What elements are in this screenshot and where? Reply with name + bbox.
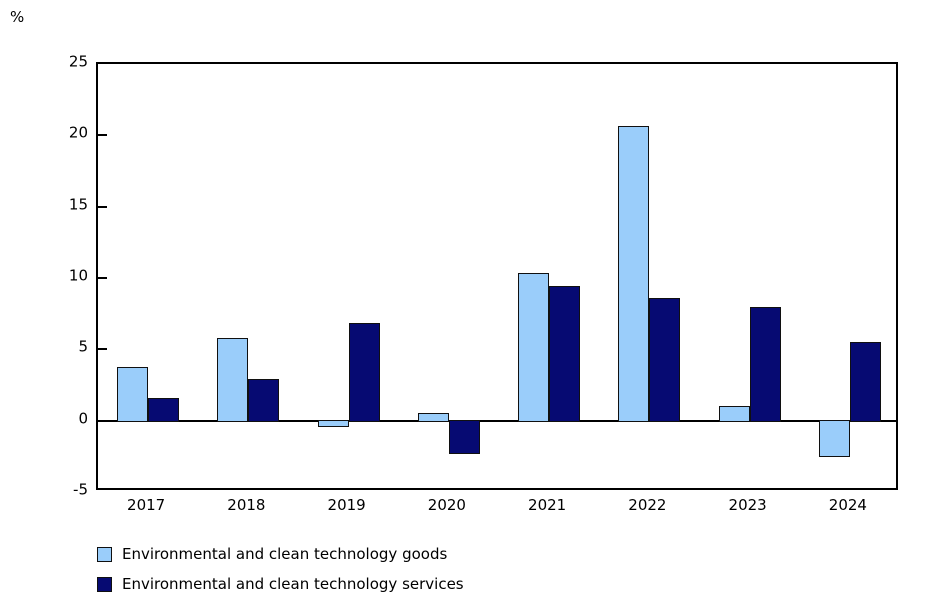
- y-axis-tick-mark: [98, 277, 107, 279]
- x-axis-tick-label: 2019: [302, 496, 392, 514]
- legend-item-services: Environmental and clean technology servi…: [97, 569, 797, 599]
- y-axis-tick-mark: [98, 206, 107, 208]
- bar-2024-goods: [819, 420, 850, 457]
- chart-legend: Environmental and clean technology goods…: [97, 539, 797, 599]
- legend-swatch-goods-icon: [97, 547, 112, 562]
- y-axis-tick-label: 10: [28, 269, 88, 284]
- y-axis-unit-label: %: [10, 10, 24, 25]
- x-axis-tick-label: 2018: [201, 496, 291, 514]
- legend-label-services: Environmental and clean technology servi…: [122, 577, 464, 592]
- y-axis-labels: 2520151050-5: [22, 62, 88, 490]
- legend-item-goods: Environmental and clean technology goods: [97, 539, 797, 569]
- x-axis-tick-label: 2024: [803, 496, 893, 514]
- y-axis-tick-label: 0: [28, 411, 88, 426]
- bar-2022-services: [649, 298, 680, 422]
- bar-2020-services: [449, 420, 480, 455]
- legend-swatch-services-icon: [97, 577, 112, 592]
- y-axis-tick-mark: [98, 348, 107, 350]
- chart-plot-area: [96, 62, 898, 490]
- x-axis-labels: 20172018201920202021202220232024: [96, 496, 898, 522]
- x-axis-tick-label: 2017: [101, 496, 191, 514]
- bars-layer: [98, 64, 896, 488]
- bar-2022-goods: [618, 126, 649, 422]
- bar-2018-services: [248, 379, 279, 422]
- y-axis-tick-label: 15: [28, 197, 88, 212]
- bar-2019-services: [349, 323, 380, 422]
- bar-2020-goods: [418, 413, 449, 421]
- y-axis-tick-label: -5: [28, 483, 88, 498]
- y-axis-tick-mark: [98, 134, 107, 136]
- x-axis-tick-label: 2021: [502, 496, 592, 514]
- bar-2017-goods: [117, 367, 148, 422]
- x-axis-tick-label: 2020: [402, 496, 492, 514]
- bar-2018-goods: [217, 338, 248, 421]
- legend-label-goods: Environmental and clean technology goods: [122, 547, 447, 562]
- bar-2021-goods: [518, 273, 549, 421]
- y-axis-tick-label: 20: [28, 126, 88, 141]
- bar-2021-services: [549, 286, 580, 421]
- bar-2023-goods: [719, 406, 750, 422]
- x-axis-tick-label: 2023: [703, 496, 793, 514]
- bar-2024-services: [850, 342, 881, 422]
- y-axis-tick-label: 5: [28, 340, 88, 355]
- y-axis-tick-label: 25: [28, 55, 88, 70]
- x-axis-tick-label: 2022: [602, 496, 692, 514]
- bar-2019-goods: [318, 420, 349, 428]
- bar-2017-services: [148, 398, 179, 422]
- bar-2023-services: [750, 307, 781, 422]
